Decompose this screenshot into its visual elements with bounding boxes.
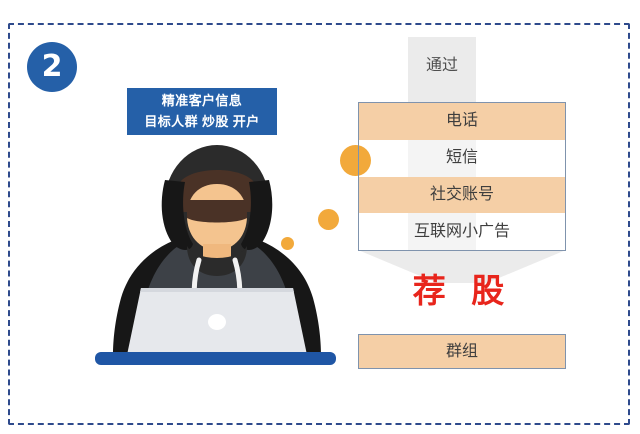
channel-label: 社交账号 [430,187,494,203]
caption-box: 精准客户信息 目标人群 炒股 开户 [127,88,277,135]
group-label: 群组 [446,344,478,360]
channel-row: 互联网小广告 [359,213,565,250]
desk-bar [95,352,336,365]
channel-row: 短信 [359,140,565,177]
via-label: 通过 [408,58,476,74]
channel-label: 短信 [446,150,478,166]
channel-row: 社交账号 [359,177,565,214]
channel-row: 电话 [359,103,565,140]
headline-stock-recommendation: 荐 股 [358,274,566,307]
channel-label: 互联网小广告 [414,224,510,240]
caption-line-1: 精准客户信息 [162,91,242,111]
step-number-label: 2 [42,52,63,82]
hooded-hacker-illustration [95,140,340,370]
channel-label: 电话 [446,113,478,129]
caption-line-2: 目标人群 炒股 开户 [144,112,259,132]
group-box: 群组 [358,334,566,369]
infographic-canvas: 2 精准客户信息 目标人群 炒股 开户 通过 [0,0,640,434]
orange-dot-medium-icon [318,209,339,230]
channel-list: 电话 短信 社交账号 互联网小广告 [358,102,566,251]
step-number-badge: 2 [27,42,77,92]
orange-dot-small-icon [281,237,294,250]
